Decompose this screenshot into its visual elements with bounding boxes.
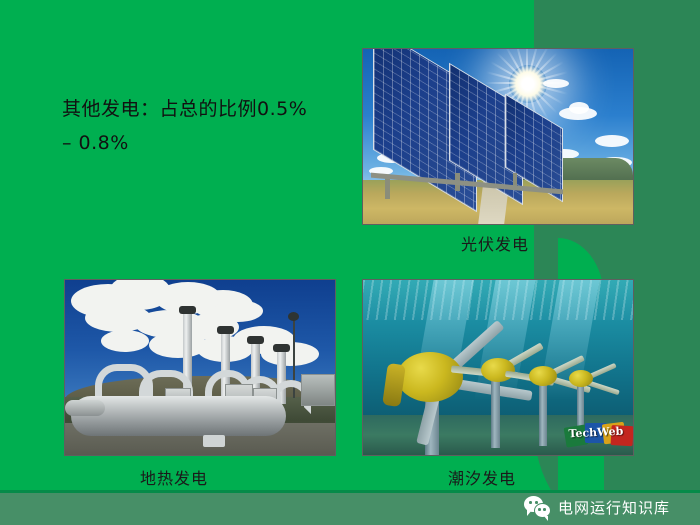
wechat-eye [538, 508, 541, 511]
techweb-watermark: TechWeb [564, 421, 627, 448]
slide-canvas: 其他发电：占总的比例0.5% – 0.8% [0, 0, 700, 525]
photo-tidal: TechWeb [362, 279, 634, 456]
steam-plume [101, 330, 149, 352]
stack-cap [273, 344, 290, 352]
steam-plume [213, 300, 263, 322]
wechat-account-name: 电网运行知识库 [558, 497, 670, 518]
cloud [543, 79, 569, 88]
wechat-icon [524, 496, 551, 518]
cloud [595, 135, 629, 147]
tidal-scene: TechWeb [363, 280, 633, 455]
pipe-support [203, 435, 225, 447]
turbine-nacelle [569, 370, 593, 387]
geothermal-scene [65, 280, 335, 455]
wechat-eye [543, 508, 546, 511]
caption-geothermal: 地热发电 [140, 465, 208, 489]
wechat-footer-badge: 电网运行知识库 [524, 493, 670, 521]
solar-scene [363, 49, 633, 224]
photo-geothermal [64, 279, 336, 456]
caption-solar: 光伏发电 [461, 231, 529, 255]
wechat-eye [529, 501, 532, 504]
equipment-cabinet [301, 374, 335, 406]
caption-tidal: 潮汐发电 [448, 465, 516, 489]
wechat-bubble-small [534, 503, 551, 518]
turbine-nacelle [397, 352, 463, 402]
cloud [569, 102, 589, 114]
turbine-nacelle [529, 366, 557, 386]
stack-cap [179, 306, 196, 314]
turbine-tower [491, 380, 500, 448]
turbine-nacelle [481, 358, 515, 382]
sun-icon [509, 65, 547, 103]
steam-plume [261, 342, 319, 366]
page-title: 其他发电：占总的比例0.5% – 0.8% [62, 92, 362, 160]
stack-cap [217, 326, 234, 334]
panel-support-strut [385, 177, 390, 199]
side-pipe [65, 400, 105, 416]
stack-cap [247, 336, 264, 344]
photo-solar [362, 48, 634, 225]
lamp-head [288, 312, 299, 321]
main-steam-pipe [71, 396, 286, 436]
turbine-tower [539, 384, 547, 446]
